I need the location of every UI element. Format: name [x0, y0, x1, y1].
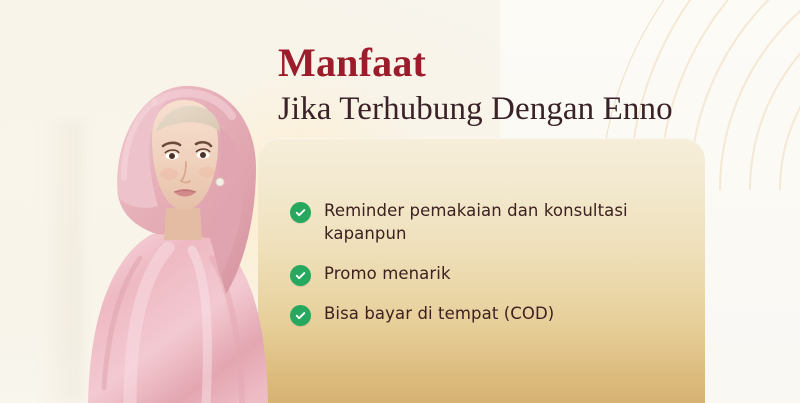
list-item: Bisa bayar di tempat (COD) [290, 303, 680, 326]
heading-block: Manfaat Jika Terhubung Dengan Enno [278, 42, 673, 129]
benefit-label: Bisa bayar di tempat (COD) [324, 303, 554, 326]
list-item: Reminder pemakaian dan konsultasi kapanp… [290, 200, 680, 246]
model-photo [60, 58, 285, 403]
promo-banner: Reminder pemakaian dan konsultasi kapanp… [0, 0, 800, 403]
page-title: Manfaat [278, 42, 673, 84]
check-circle-icon [290, 305, 311, 326]
benefit-label: Promo menarik [324, 263, 451, 286]
benefits-card: Reminder pemakaian dan konsultasi kapanp… [258, 138, 705, 403]
check-circle-icon [290, 202, 311, 223]
benefit-label: Reminder pemakaian dan konsultasi kapanp… [324, 200, 680, 246]
benefits-list: Reminder pemakaian dan konsultasi kapanp… [290, 200, 680, 326]
list-item: Promo menarik [290, 263, 680, 286]
check-circle-icon [290, 265, 311, 286]
page-subtitle: Jika Terhubung Dengan Enno [278, 90, 673, 129]
